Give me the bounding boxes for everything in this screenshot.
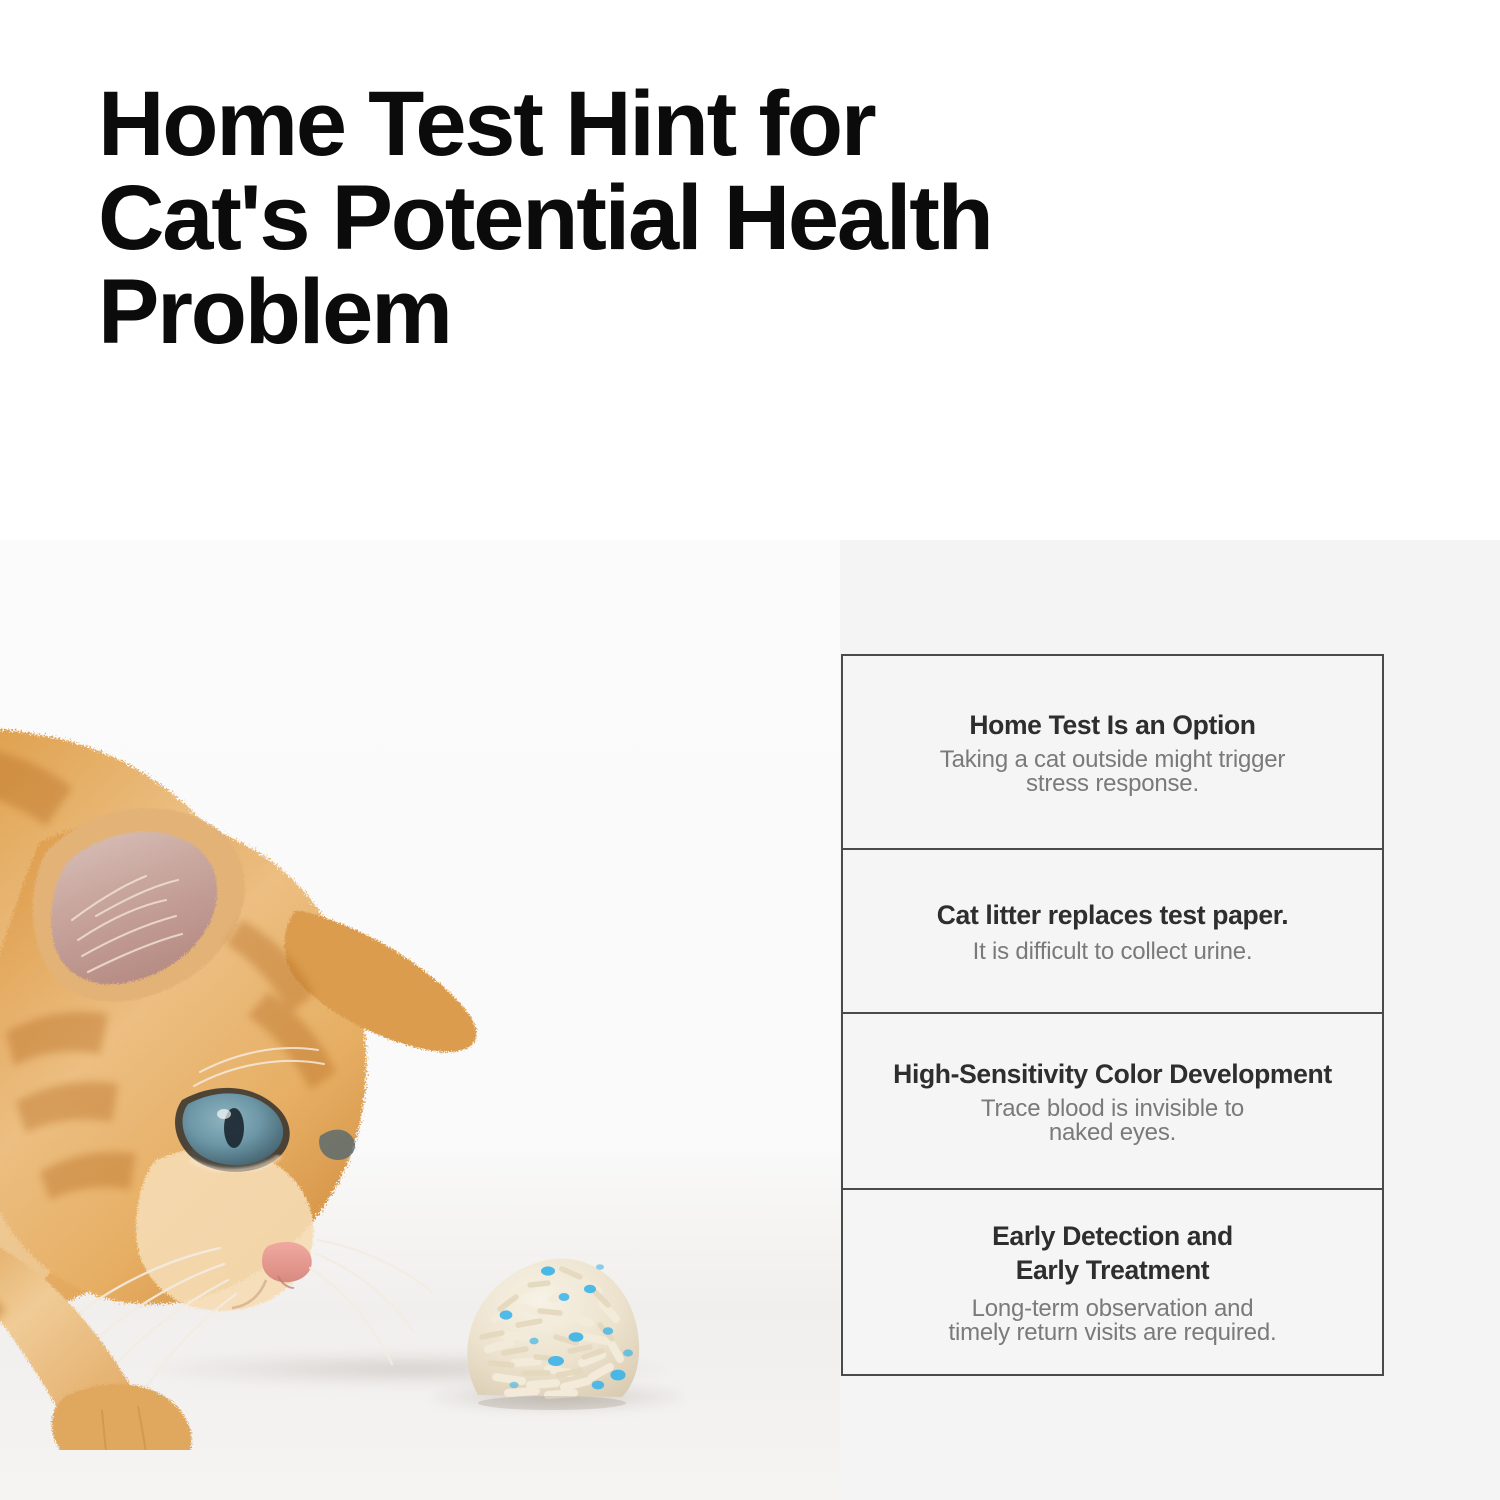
row-heading: Home Test Is an Option [969,708,1255,742]
row-subtext: Long-term observation and timely return … [949,1297,1277,1345]
row-subtext: Trace blood is invisible to naked eyes. [981,1097,1244,1145]
hero-section: Home Test Is an Option Taking a cat outs… [0,540,1500,1500]
row-heading: Early Detection and Early Treatment [992,1219,1233,1288]
table-row: Home Test Is an Option Taking a cat outs… [843,656,1382,850]
row-subtext: Taking a cat outside might trigger stres… [940,748,1285,796]
title-section: Home Test Hint for Cat's Potential Healt… [0,0,1500,540]
cat-litter-clump [452,1245,657,1410]
row-heading: High-Sensitivity Color Development [893,1057,1332,1091]
cat-photo [0,540,840,1500]
page-title: Home Test Hint for Cat's Potential Healt… [98,78,1078,359]
table-row: Early Detection and Early Treatment Long… [843,1190,1382,1374]
info-table: Home Test Is an Option Taking a cat outs… [841,654,1384,1376]
row-subtext: It is difficult to collect urine. [973,940,1253,964]
table-row: High-Sensitivity Color Development Trace… [843,1014,1382,1190]
row-heading: Cat litter replaces test paper. [937,898,1288,932]
table-row: Cat litter replaces test paper. It is di… [843,850,1382,1014]
